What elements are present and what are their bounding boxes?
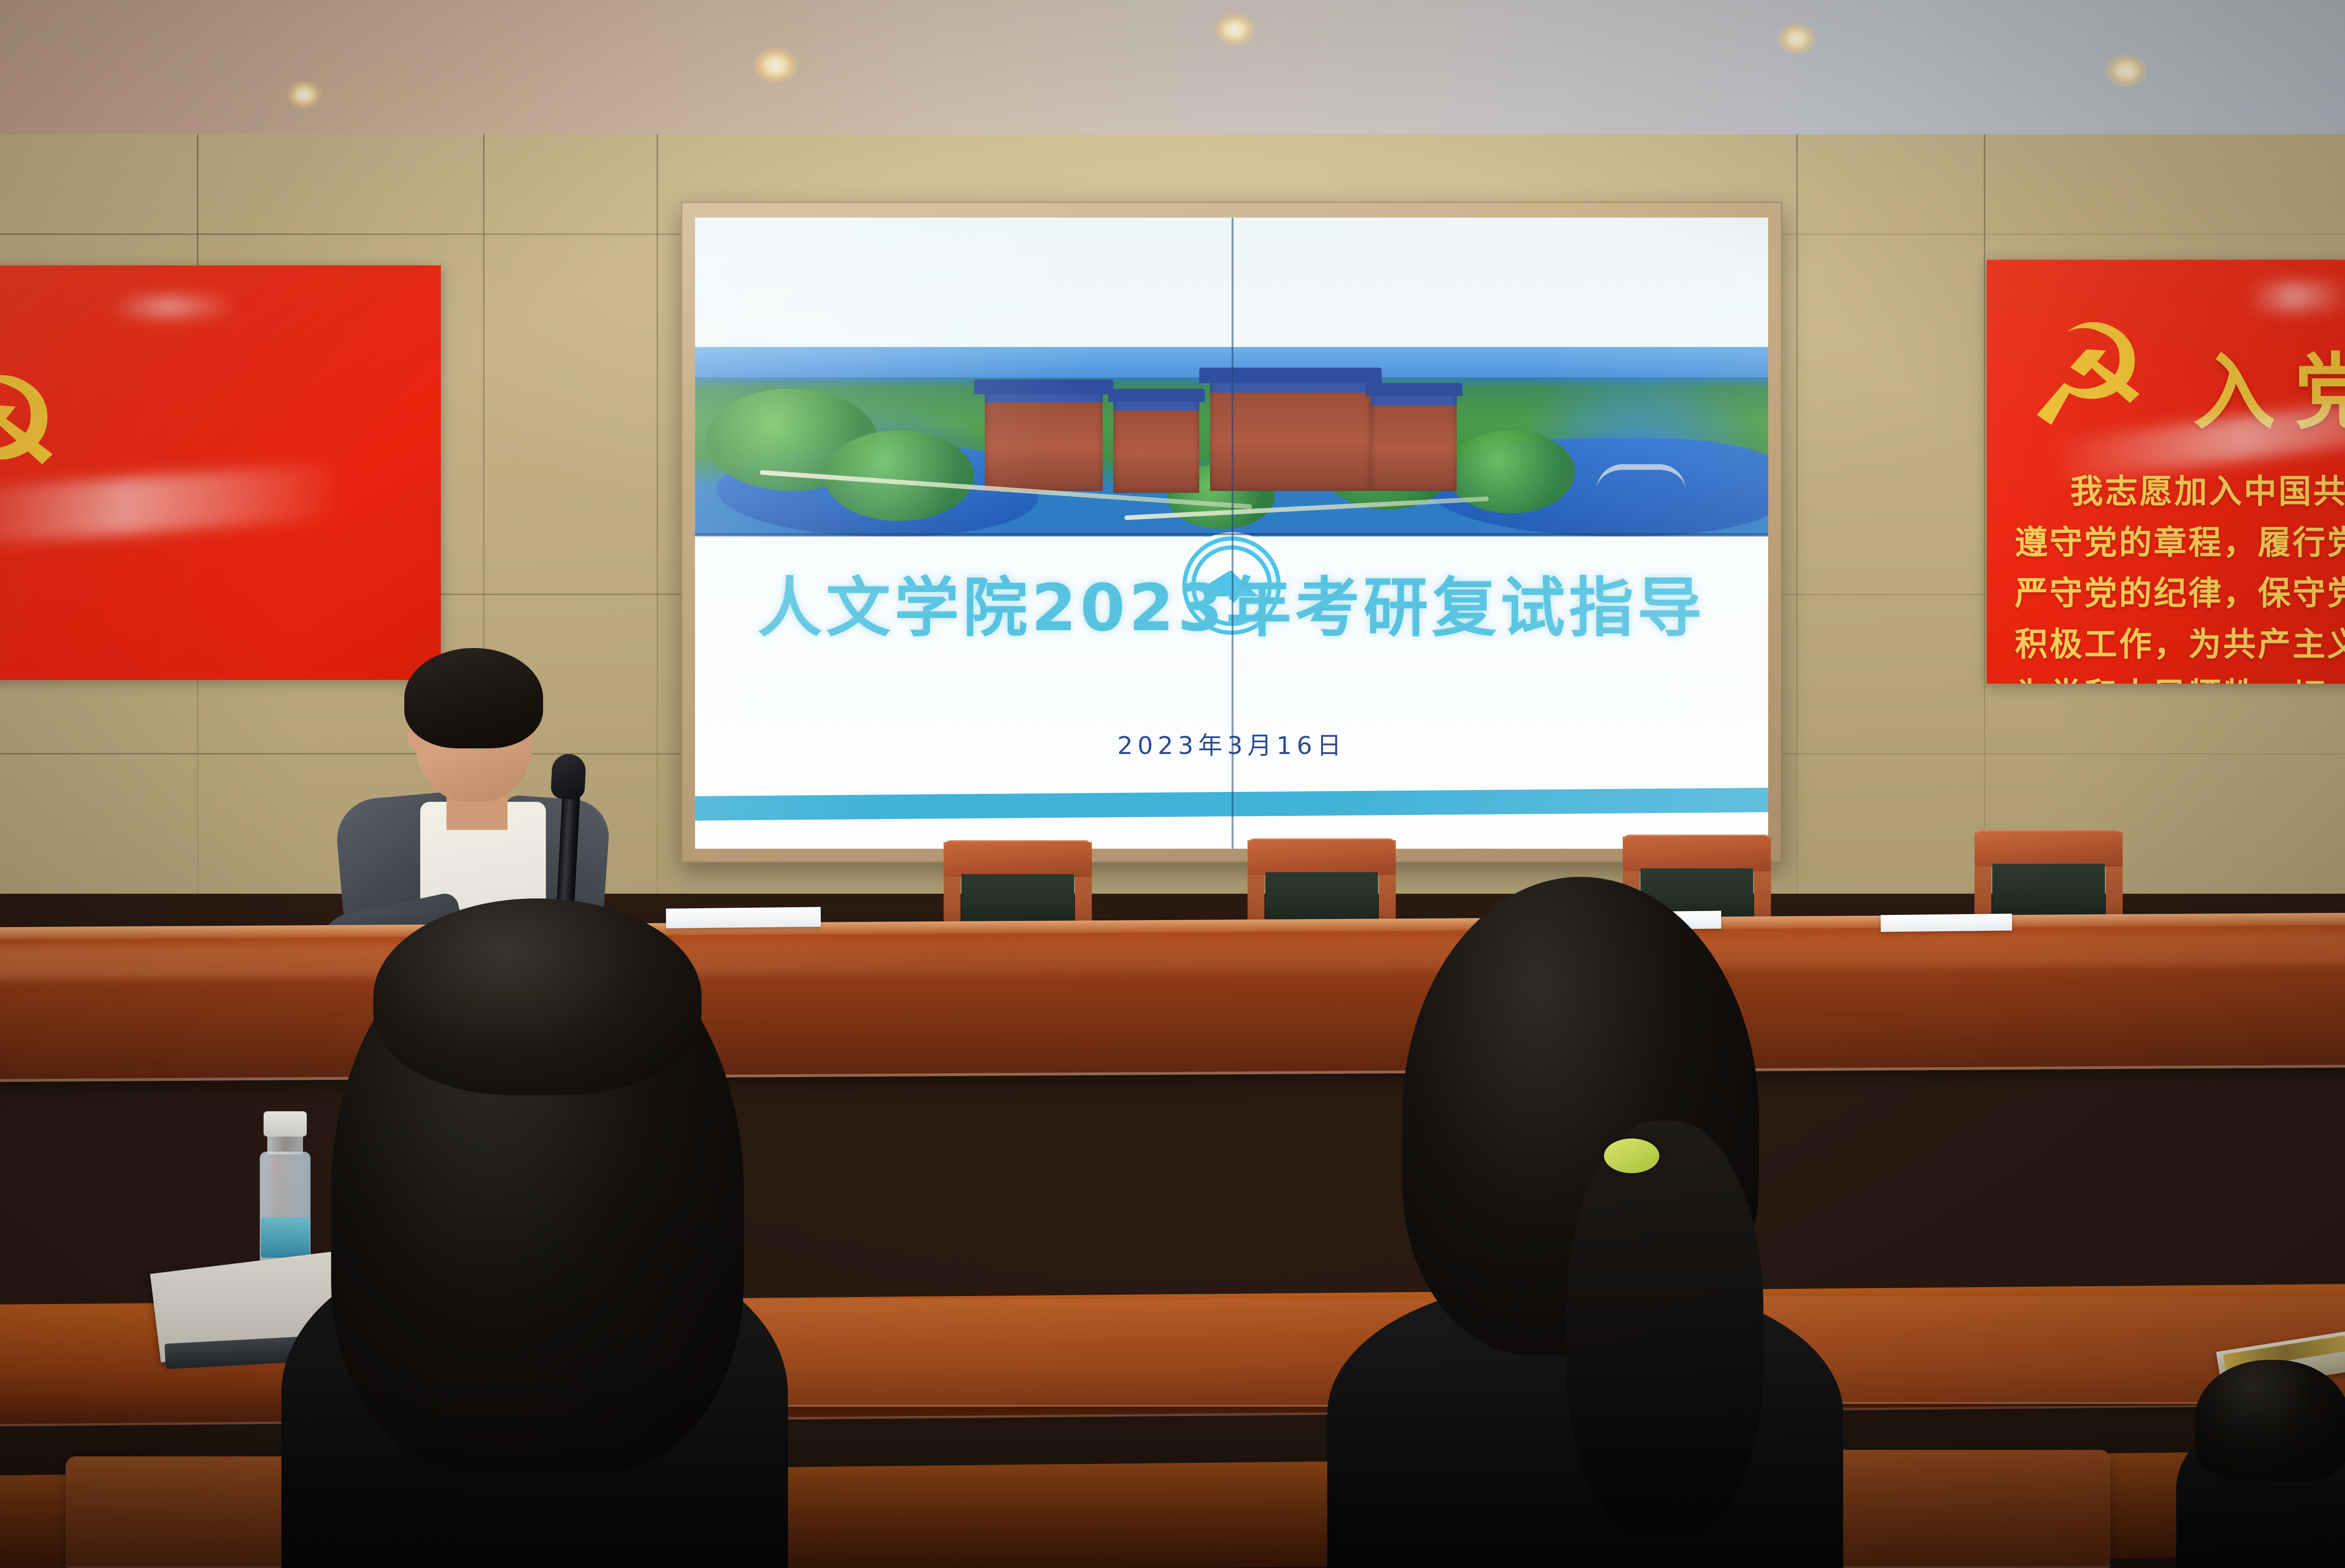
- ceiling: [0, 0, 2345, 141]
- audience-member-center: [1318, 877, 1853, 1568]
- downlight-icon: [1778, 23, 1816, 54]
- party-emblem-icon: ☭: [0, 357, 66, 512]
- party-oath-banner: ☭ 入党誓 我志愿加入中国共产党， 遵守党的章程，履行党员义务， 严守党的纪律，…: [1987, 260, 2345, 684]
- oath-line: 为党和人民牺牲一切，永不叛: [2015, 670, 2345, 684]
- oath-line: 严守党的纪律，保守党的秘密: [2015, 568, 2345, 619]
- oath-line: 我志愿加入中国共产党，: [2015, 466, 2345, 517]
- microphone-head-icon: [551, 753, 587, 800]
- video-wall-display[interactable]: 人文学院2023年考研复试指导 2023年3月16日: [681, 202, 1782, 863]
- downlight-icon: [1215, 13, 1255, 46]
- oath-line: 积极工作，为共产主义奋斗终: [2015, 619, 2345, 670]
- oath-line: 遵守党的章程，履行党员义务，: [2015, 517, 2345, 568]
- display-screen[interactable]: 人文学院2023年考研复试指导 2023年3月16日: [695, 218, 1768, 849]
- hair-tie: [1604, 1138, 1659, 1173]
- red-wall-banner-left: ☭: [0, 265, 441, 680]
- conference-room-scene: ☭ ☭ 入党誓 我志愿加入中国共产党， 遵守党的章程，履行党员义务， 严守党的纪…: [0, 0, 2345, 1568]
- oath-body: 我志愿加入中国共产党， 遵守党的章程，履行党员义务， 严守党的纪律，保守党的秘密…: [2015, 466, 2345, 684]
- oath-title: 入党誓: [2193, 325, 2345, 445]
- wooden-chair[interactable]: [1974, 830, 2123, 924]
- audience-member-right-edge: [2176, 1360, 2345, 1568]
- party-emblem-icon: ☭: [2025, 306, 2151, 446]
- video-wall-seam-horizontal: [695, 533, 1768, 535]
- presenter-hair: [404, 648, 543, 748]
- wooden-chair[interactable]: [944, 840, 1092, 934]
- table-paper: [1881, 914, 2012, 932]
- audience-member-left: [263, 910, 807, 1568]
- downlight-icon: [753, 47, 798, 83]
- downlight-icon: [2106, 54, 2147, 87]
- downlight-icon: [287, 81, 322, 109]
